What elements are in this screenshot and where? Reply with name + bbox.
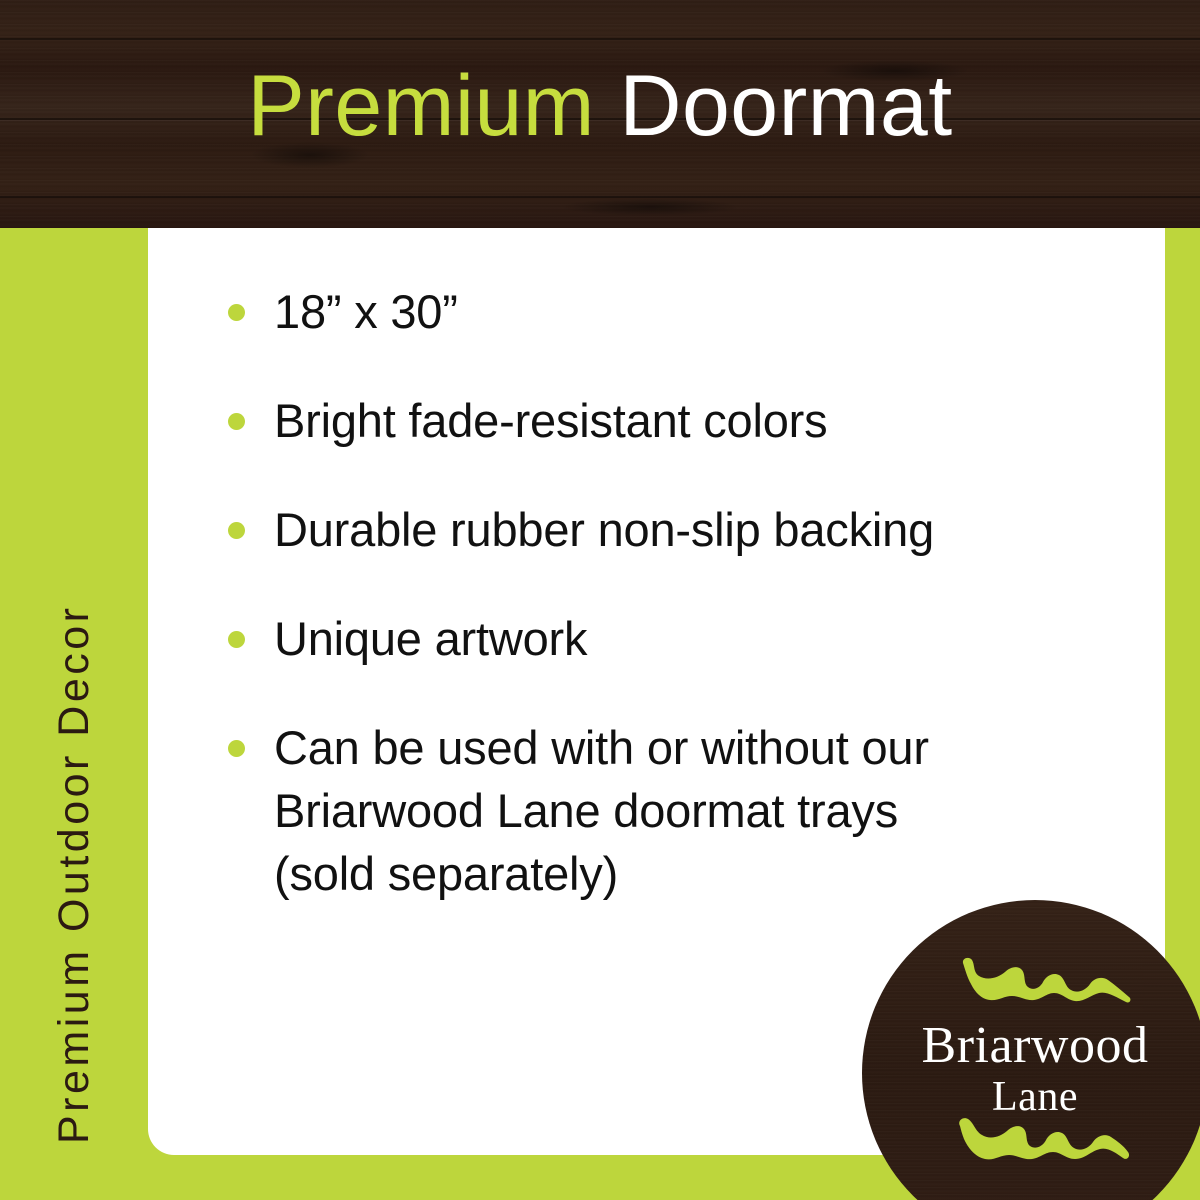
list-item-line: Unique artwork — [274, 607, 1126, 670]
brand-logo-badge: Briarwood Lane — [862, 900, 1200, 1200]
bullet-dot-icon — [228, 413, 245, 430]
list-item-text: 18” x 30” — [274, 280, 1126, 343]
page-title-accent: Premium — [247, 58, 595, 154]
product-infographic: Premium Doormat Premium Outdoor Decor 18… — [0, 0, 1200, 1200]
list-item: Unique artwork — [226, 607, 1126, 670]
list-item-line: (sold separately) — [274, 842, 1126, 905]
page-title: Premium Doormat — [0, 56, 1200, 156]
wood-knot — [560, 198, 740, 216]
feature-list: 18” x 30” Bright fade-resistant colors D… — [226, 280, 1126, 905]
list-item-text: Durable rubber non-slip backing — [274, 498, 1126, 561]
header-banner: Premium Doormat — [0, 0, 1200, 228]
list-item-line: Can be used with or without our — [274, 716, 1126, 779]
list-item-line: 18” x 30” — [274, 280, 1126, 343]
list-item-text: Can be used with or without our Briarwoo… — [274, 716, 1126, 905]
wood-seam — [0, 38, 1200, 40]
list-item: Durable rubber non-slip backing — [226, 498, 1126, 561]
list-item-line: Briarwood Lane doormat trays — [274, 779, 1126, 842]
list-item: 18” x 30” — [226, 280, 1126, 343]
list-item-line: Bright fade-resistant colors — [274, 389, 1126, 452]
page-title-plain: Doormat — [595, 58, 953, 154]
left-accent-bar — [0, 228, 148, 1200]
list-item-line: Durable rubber non-slip backing — [274, 498, 1126, 561]
list-item: Bright fade-resistant colors — [226, 389, 1126, 452]
list-item: Can be used with or without our Briarwoo… — [226, 716, 1126, 905]
list-item-text: Unique artwork — [274, 607, 1126, 670]
bullet-dot-icon — [228, 522, 245, 539]
wood-seam — [0, 196, 1200, 198]
bullet-dot-icon — [228, 304, 245, 321]
bullet-dot-icon — [228, 740, 245, 757]
bullet-dot-icon — [228, 631, 245, 648]
list-item-text: Bright fade-resistant colors — [274, 389, 1126, 452]
oak-leaf-flourish-top-icon — [960, 956, 1132, 1008]
oak-leaf-flourish-bottom-icon — [954, 1112, 1130, 1168]
